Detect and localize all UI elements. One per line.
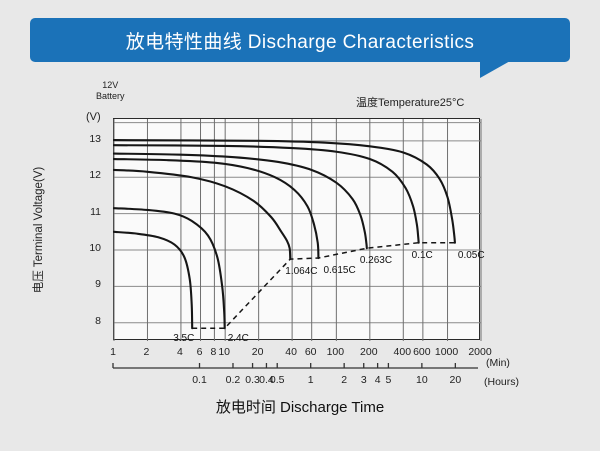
- page-title: 放电特性曲线 Discharge Characteristics: [30, 18, 570, 62]
- header-banner: 放电特性曲线 Discharge Characteristics: [30, 18, 570, 62]
- battery-label: 12V Battery: [96, 80, 125, 102]
- curve-label: 0.05C: [458, 250, 485, 261]
- discharge-chart: 12V Battery 温度Temperature25°C (V) 电压 Ter…: [0, 70, 600, 451]
- curve-label: 2.4C: [228, 333, 249, 344]
- y-tick-label: 11: [90, 206, 101, 218]
- discharge-curve: [114, 170, 290, 259]
- minutes-unit-label: (Min): [486, 357, 510, 369]
- hours-unit-label: (Hours): [484, 376, 519, 388]
- curve-label: 3.5C: [173, 333, 194, 344]
- curve-label: 0.263C: [360, 255, 392, 266]
- y-tick-label: 9: [95, 278, 101, 290]
- battery-word: Battery: [96, 91, 125, 102]
- curve-label: 0.615C: [323, 265, 355, 276]
- y-tick-label: 8: [95, 315, 101, 327]
- y-axis-title: 电压 Terminal Voltage(V): [30, 145, 46, 315]
- curve-label: 1.064C: [285, 266, 317, 277]
- y-tick-label: 10: [89, 242, 101, 254]
- temperature-label: 温度Temperature25°C: [356, 94, 464, 110]
- battery-voltage: 12V: [96, 80, 125, 91]
- hours-axis: [0, 354, 600, 394]
- x-axis-title: 放电时间 Discharge Time: [0, 396, 600, 417]
- curve-label: 0.1C: [412, 250, 433, 261]
- discharge-curve: [114, 154, 367, 249]
- y-tick-label: 12: [89, 169, 101, 181]
- discharge-curve: [114, 208, 225, 328]
- plot-svg: [114, 119, 481, 341]
- y-tick-label: 13: [89, 133, 101, 145]
- voltage-unit-label: (V): [86, 111, 101, 123]
- plot-area: [113, 118, 480, 340]
